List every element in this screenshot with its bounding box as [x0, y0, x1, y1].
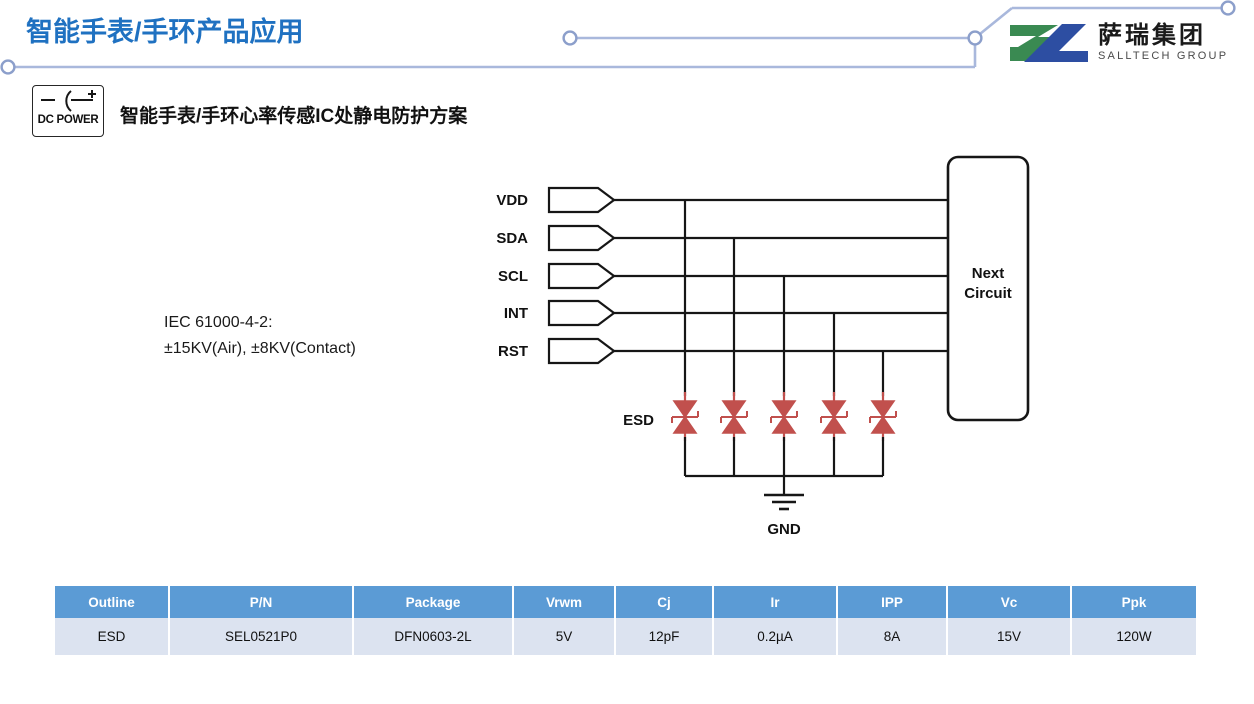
esd-diode-rst — [870, 392, 896, 441]
table-col-pn: P/N — [170, 586, 352, 618]
cell-pn: SEL0521P0 — [170, 618, 352, 655]
pin-connector-int — [549, 301, 614, 325]
cell-package: DFN0603-2L — [354, 618, 512, 655]
esd-diode-vdd — [672, 392, 698, 441]
table-col-vrwm: Vrwm — [514, 586, 614, 618]
cell-ir: 0.2µA — [714, 618, 836, 655]
cell-outline: ESD — [55, 618, 168, 655]
pin-connector-rst — [549, 339, 614, 363]
esd-diode-scl — [771, 392, 797, 441]
esd-diode-int — [821, 392, 847, 441]
table-header-row: Outline P/N Package Vrwm Cj Ir IPP Vc Pp… — [55, 586, 1196, 618]
esd-diode-group — [672, 392, 896, 441]
pin-connector-vdd — [549, 188, 614, 212]
esd-label: ESD — [623, 412, 654, 429]
table-col-package: Package — [354, 586, 512, 618]
table-col-vc: Vc — [948, 586, 1070, 618]
spec-table: Outline P/N Package Vrwm Cj Ir IPP Vc Pp… — [53, 586, 1198, 655]
cell-cj: 12pF — [616, 618, 712, 655]
ground-symbol — [764, 495, 804, 509]
pin-label-scl: SCL — [498, 268, 528, 285]
table-row: ESD SEL0521P0 DFN0603-2L 5V 12pF 0.2µA 8… — [55, 618, 1196, 655]
pin-label-vdd: VDD — [496, 192, 528, 209]
cell-vrwm: 5V — [514, 618, 614, 655]
table-col-cj: Cj — [616, 586, 712, 618]
pin-label-int: INT — [504, 305, 528, 322]
next-circuit-label-line2: Circuit — [964, 285, 1012, 302]
table-col-outline: Outline — [55, 586, 168, 618]
cell-ipp: 8A — [838, 618, 946, 655]
table-col-ipp: IPP — [838, 586, 946, 618]
gnd-label: GND — [767, 521, 801, 538]
next-circuit-label-line1: Next — [972, 265, 1005, 282]
esd-protection-schematic: VDD SDA SCL INT RST — [0, 0, 1254, 580]
pin-connector-scl — [549, 264, 614, 288]
cell-ppk: 120W — [1072, 618, 1196, 655]
table-col-ir: Ir — [714, 586, 836, 618]
esd-diode-sda — [721, 392, 747, 441]
pin-connector-sda — [549, 226, 614, 250]
pin-label-sda: SDA — [496, 230, 528, 247]
cell-vc: 15V — [948, 618, 1070, 655]
pin-label-rst: RST — [498, 343, 528, 360]
table-col-ppk: Ppk — [1072, 586, 1196, 618]
